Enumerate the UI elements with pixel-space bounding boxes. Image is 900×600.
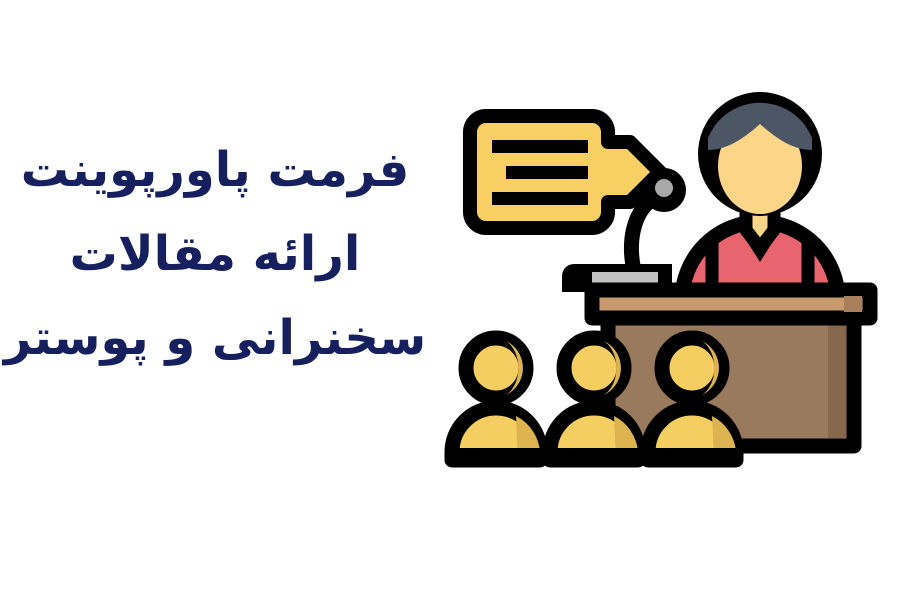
audience-group [452, 338, 738, 462]
lecture-illustration-svg [440, 86, 880, 476]
audience-person-1 [452, 338, 540, 460]
poster-canvas: فرمت پاورپوینت ارائه مقالات سخنرانی و پو… [0, 0, 900, 600]
podium-top-ledge [592, 290, 870, 318]
headline-block: فرمت پاورپوینت ارائه مقالات سخنرانی و پو… [0, 128, 430, 380]
audience-base-bar [452, 448, 738, 462]
microphone-head-grill [655, 179, 673, 197]
speech-bubble-line-3 [492, 192, 588, 205]
audience-head-3 [662, 338, 722, 398]
lecture-illustration [440, 86, 880, 476]
audience-head-2 [564, 338, 624, 398]
speech-bubble-line-2 [506, 166, 588, 179]
headline-line-2: ارائه مقالات [0, 212, 430, 296]
podium-body-shade [828, 318, 846, 438]
audience-head-1 [466, 338, 526, 398]
headline-line-1: فرمت پاورپوینت [0, 128, 430, 212]
podium-top-shade [844, 296, 862, 312]
speech-bubble-icon [470, 116, 660, 228]
headline-line-3: سخنرانی و پوستر [0, 296, 430, 380]
speech-bubble-line-1 [492, 140, 588, 153]
